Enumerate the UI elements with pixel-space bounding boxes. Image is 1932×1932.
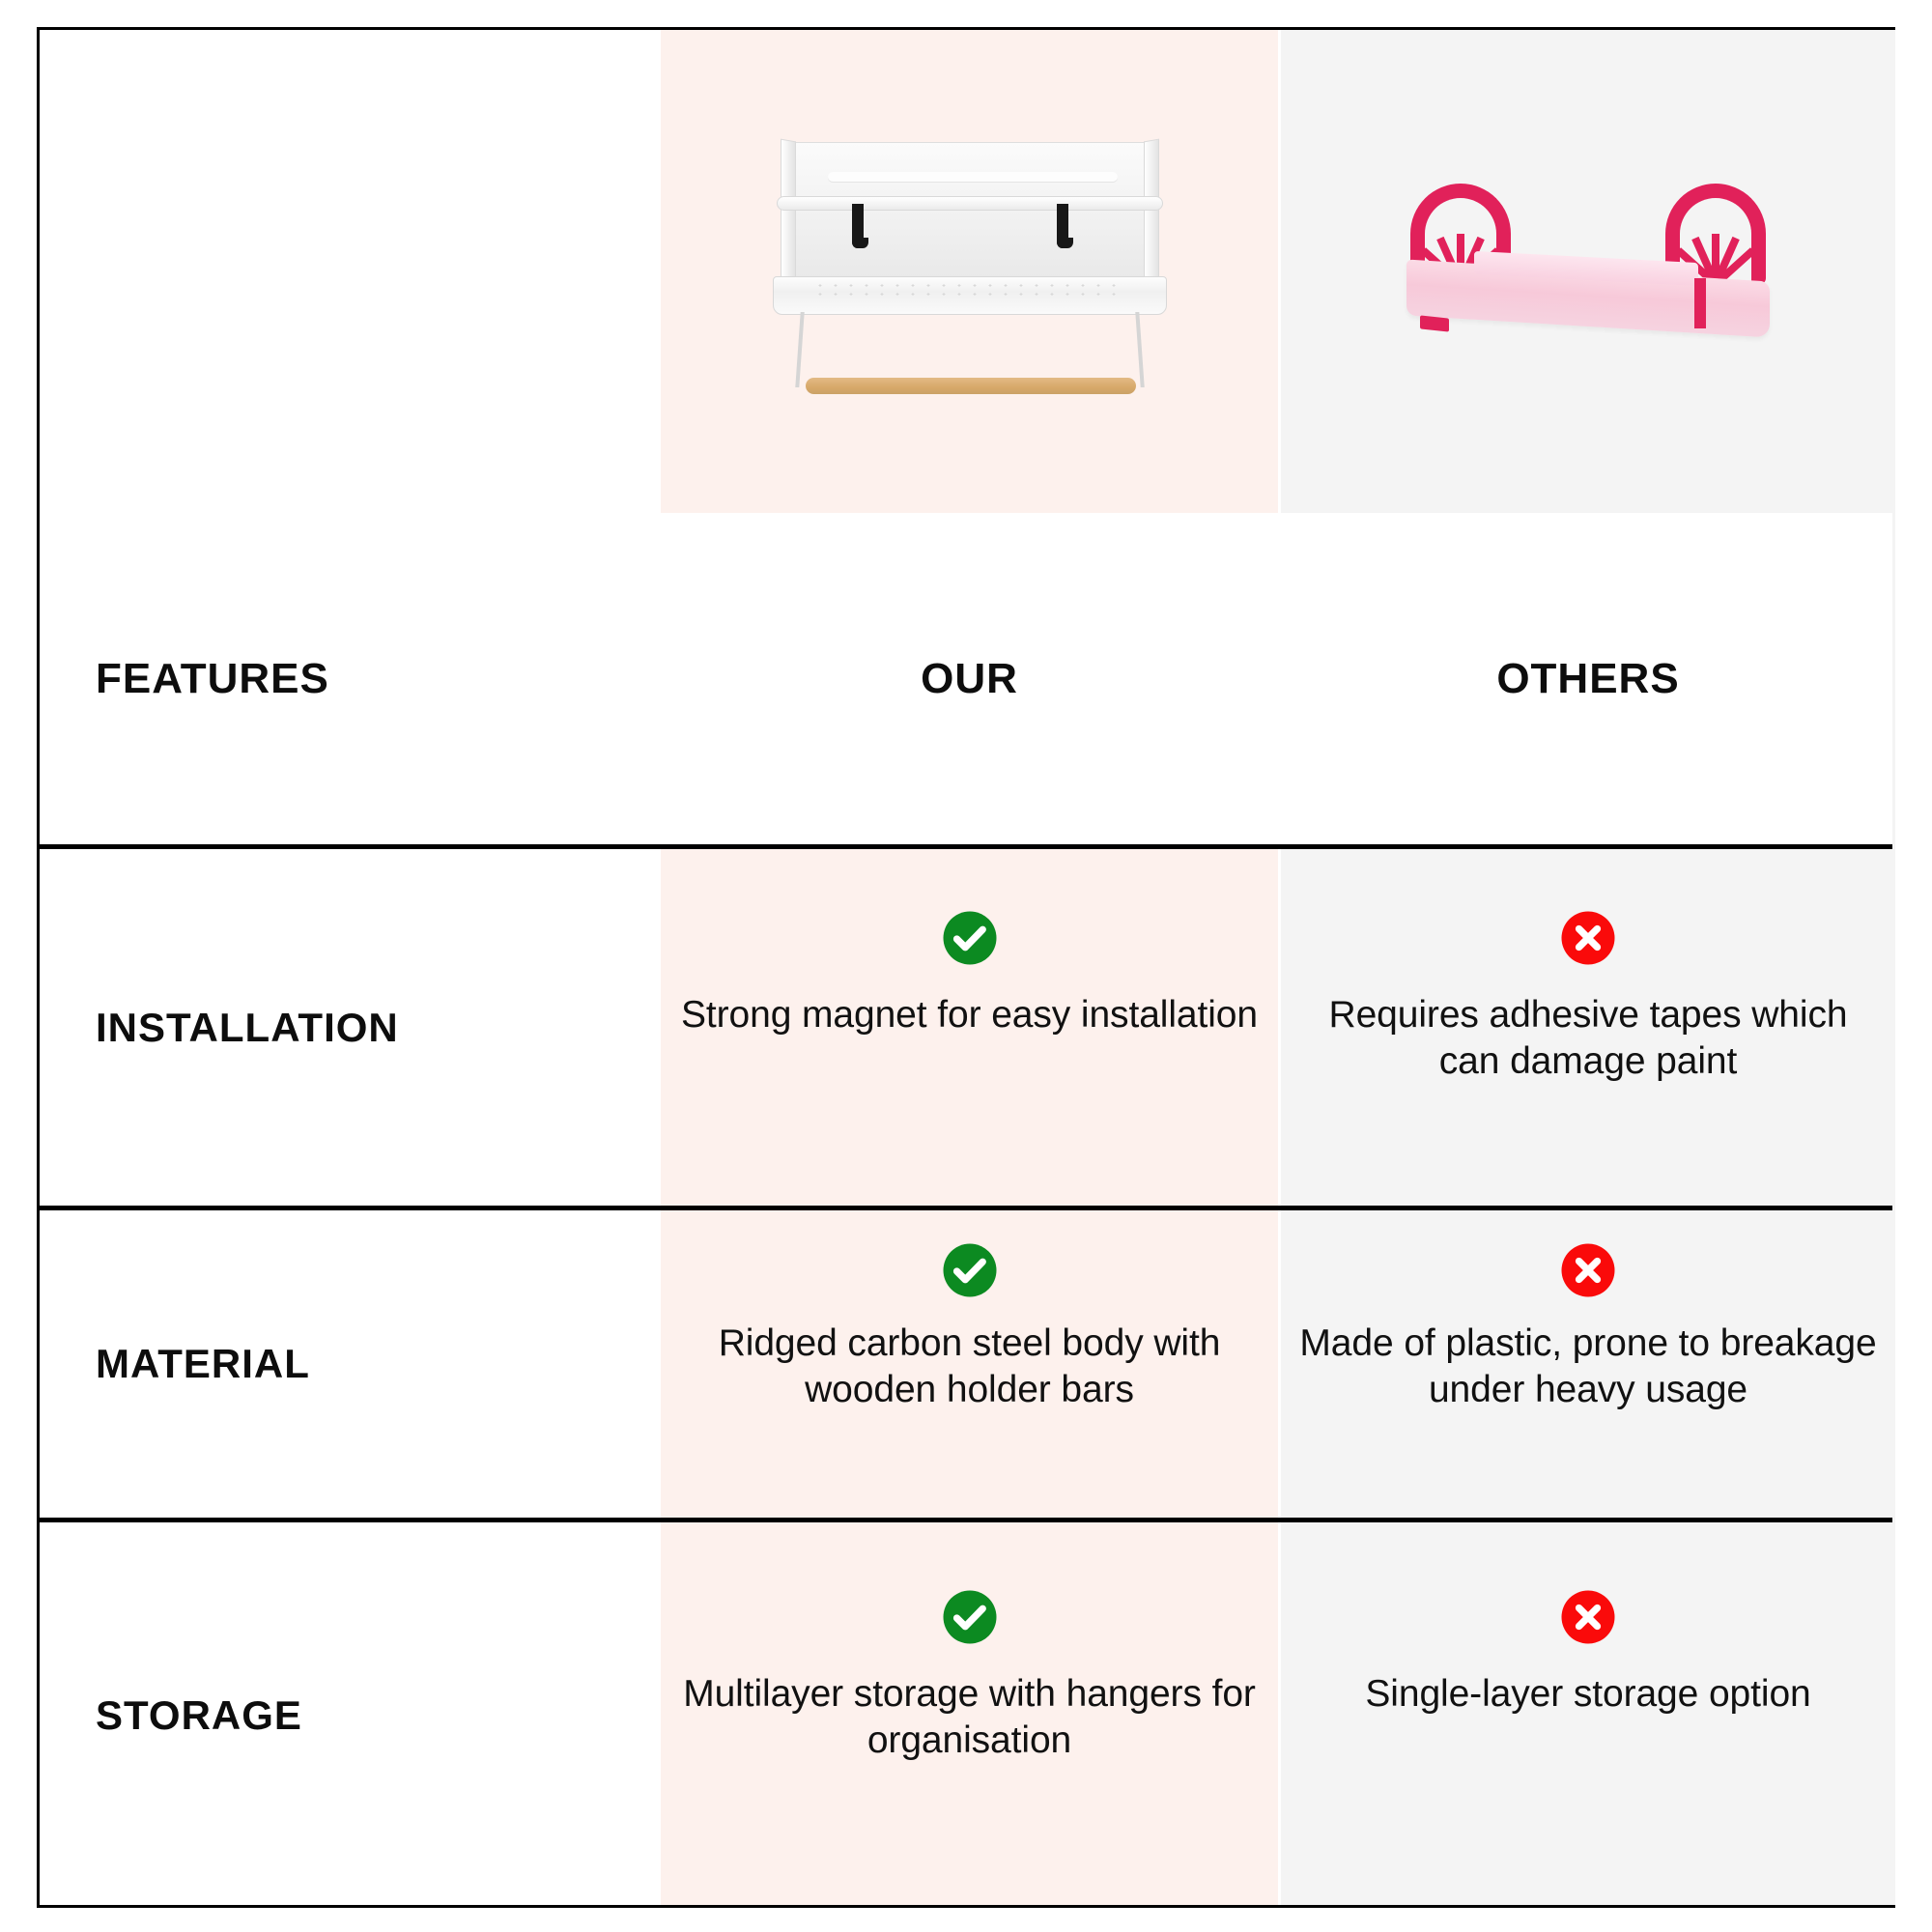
shelf-wooden-towel-bar — [806, 378, 1136, 394]
our-value-text: Multilayer storage with hangers for orga… — [678, 1671, 1261, 1763]
shelf-top-rail — [777, 196, 1163, 211]
green-check-circle-icon — [941, 1588, 999, 1646]
shelf-leg-left — [795, 312, 804, 387]
shelf-hook-left — [852, 204, 864, 248]
header-features-cell: FEATURES — [40, 513, 661, 844]
green-check-circle-icon — [941, 909, 999, 967]
comparison-table: FEATURES OUR OTHERS INSTALLATION — [37, 27, 1895, 1908]
others-value-text: Made of plastic, prone to breakage under… — [1298, 1321, 1878, 1412]
our-value-text: Strong magnet for easy installation — [681, 992, 1258, 1038]
header-our-label: OUR — [921, 655, 1018, 703]
red-cross-circle-icon — [1559, 1588, 1617, 1646]
our-value-text: Ridged carbon steel body with wooden hol… — [678, 1321, 1261, 1412]
rack-foot-left — [1420, 315, 1449, 331]
white-metal-shelf-product-image — [767, 136, 1173, 397]
green-check-circle-icon — [941, 1241, 999, 1299]
rack-post-right — [1694, 278, 1706, 328]
our-value-cell: Ridged carbon steel body with wooden hol… — [661, 1210, 1278, 1518]
shelf-perforation-pattern — [812, 281, 1127, 298]
row-divider-2 — [40, 1206, 1892, 1210]
others-product-image-cell — [1281, 30, 1895, 513]
pink-plastic-rack-product-image — [1405, 182, 1772, 355]
feature-label-cell: MATERIAL — [40, 1210, 661, 1518]
comparison-infographic: FEATURES OUR OTHERS INSTALLATION — [0, 0, 1932, 1932]
table-row: MATERIAL Ridged carbon steel body with w… — [40, 1210, 1892, 1518]
header-our-cell: OUR — [661, 513, 1278, 844]
shelf-hook-right — [1057, 204, 1068, 248]
feature-label: STORAGE — [96, 1692, 302, 1739]
red-cross-circle-icon — [1559, 1241, 1617, 1299]
others-value-text: Single-layer storage option — [1365, 1671, 1810, 1718]
feature-label: MATERIAL — [96, 1341, 310, 1387]
header-others-label: OTHERS — [1496, 655, 1679, 703]
shelf-side-right — [1144, 139, 1159, 287]
table-header-row: FEATURES OUR OTHERS — [40, 513, 1892, 844]
row-divider-3 — [40, 1518, 1892, 1522]
red-cross-circle-icon — [1559, 909, 1617, 967]
header-others-cell: OTHERS — [1281, 513, 1895, 844]
feature-label: INSTALLATION — [96, 1005, 399, 1051]
others-value-cell: Requires adhesive tapes which can damage… — [1281, 849, 1895, 1206]
features-image-blank-cell — [40, 30, 661, 513]
our-value-cell: Multilayer storage with hangers for orga… — [661, 1522, 1278, 1908]
feature-label-cell: STORAGE — [40, 1522, 661, 1908]
row-divider-1 — [40, 844, 1892, 849]
table-row: STORAGE Multilayer storage with hangers … — [40, 1522, 1892, 1908]
shelf-side-left — [781, 139, 796, 287]
shelf-tray — [773, 276, 1167, 315]
table-row: INSTALLATION Strong magnet for easy inst… — [40, 849, 1892, 1206]
our-product-image-cell — [661, 30, 1278, 513]
our-value-cell: Strong magnet for easy installation — [661, 849, 1278, 1206]
others-value-cell: Made of plastic, prone to breakage under… — [1281, 1210, 1895, 1518]
shelf-leg-right — [1135, 312, 1144, 387]
others-value-cell: Single-layer storage option — [1281, 1522, 1895, 1908]
header-features-label: FEATURES — [96, 655, 329, 703]
others-value-text: Requires adhesive tapes which can damage… — [1298, 992, 1878, 1084]
feature-label-cell: INSTALLATION — [40, 849, 661, 1206]
shelf-backplate — [792, 142, 1148, 279]
